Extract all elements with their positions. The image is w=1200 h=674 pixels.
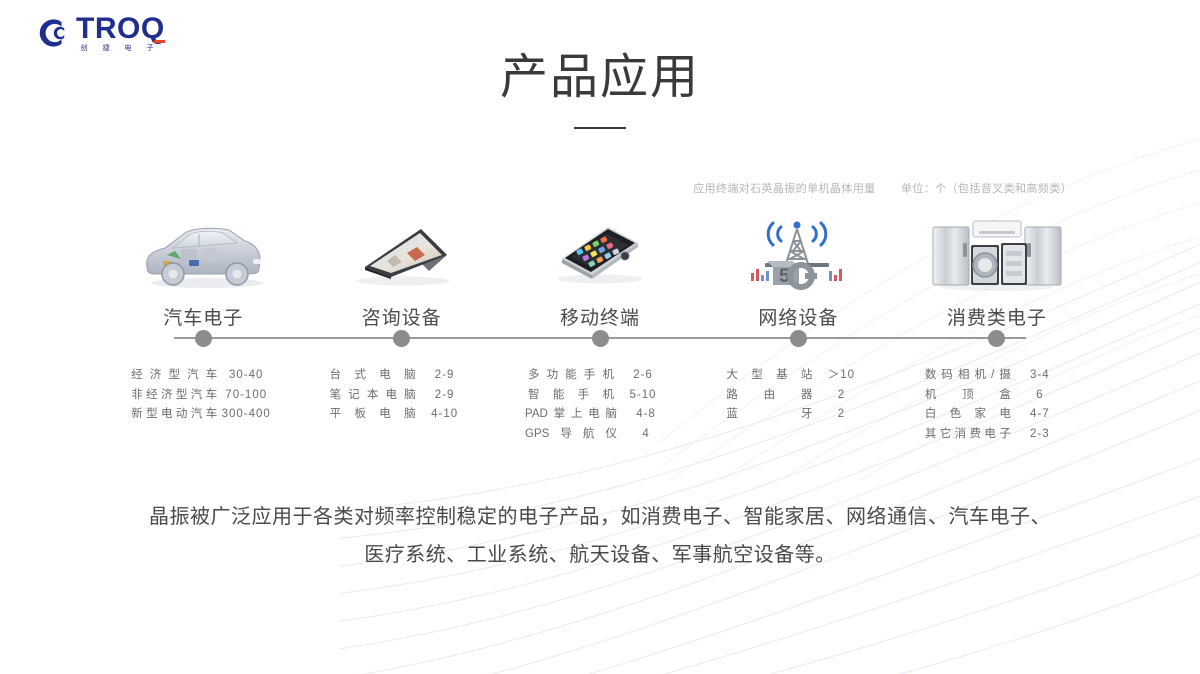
spec-value: 2	[812, 386, 870, 406]
spec-row: 非经济型汽车 70-100	[131, 386, 275, 406]
timeline-node-network[interactable]	[699, 329, 897, 347]
spec-row: 白色家电 4-7	[925, 405, 1069, 425]
spec-name: 路由器	[726, 386, 812, 406]
spec-value: ＞10	[812, 366, 870, 386]
spec-row: 多功能手机 2-6	[528, 366, 672, 386]
spec-name: 笔记本电脑	[330, 386, 416, 406]
spec-name: 其它消费电子	[925, 425, 1011, 445]
page-title: 产品应用	[0, 52, 1200, 105]
spec-value: 2-9	[416, 366, 474, 386]
spec-row: 数码相机/摄 3-4	[925, 366, 1069, 386]
spec-name: 多功能手机	[528, 366, 614, 386]
spec-name: 非经济型汽车	[131, 386, 217, 406]
spec-name: 白色家电	[925, 405, 1011, 425]
spec-row: 平板电脑 4-10	[330, 405, 474, 425]
spec-value: 4	[617, 425, 675, 445]
category-label-network: 网络设备	[758, 303, 838, 330]
spec-name: GPS导航仪	[525, 425, 617, 445]
spec-row: 大型基站 ＞10	[726, 366, 870, 386]
spec-value: 5-10	[614, 386, 672, 406]
spec-row: 机顶盒 6	[925, 386, 1069, 406]
spec-row: 新型电动汽车 300-400	[131, 405, 275, 425]
double-c-logo-icon	[36, 16, 70, 50]
timeline-dot-icon	[988, 330, 1005, 347]
timeline-dot-icon	[393, 330, 410, 347]
footer-paragraph: 晶振被广泛应用于各类对频率控制稳定的电子产品，如消费电子、智能家居、网络通信、汽…	[100, 498, 1100, 574]
spec-column-mobile: 多功能手机 2-6 智能手机 5-10 PAD掌上电脑 4-8 GPS导航仪 4	[501, 366, 699, 444]
spec-row: 经济型汽车 30-40	[131, 366, 275, 386]
spec-name: 经济型汽车	[131, 366, 217, 386]
category-label-automotive: 汽车电子	[163, 303, 243, 330]
brand-accent-bar	[154, 40, 165, 43]
spec-value: 70-100	[217, 386, 275, 406]
spec-value: 2-9	[416, 386, 474, 406]
spec-name: 数码相机/摄	[925, 366, 1011, 386]
timeline-dot-icon	[592, 330, 609, 347]
spec-column-automotive: 经济型汽车 30-40 非经济型汽车 70-100 新型电动汽车 300-400	[104, 366, 302, 444]
brand-logo: TROQ 创 捷 电 子	[36, 14, 165, 52]
spec-column-computing: 台式电脑 2-9 笔记本电脑 2-9 平板电脑 4-10	[302, 366, 500, 444]
spec-value: 4-7	[1011, 405, 1069, 425]
spec-value: 2	[812, 405, 870, 425]
spec-name: 机顶盒	[925, 386, 1011, 406]
home-appliances-icon	[922, 205, 1072, 291]
5g-tower-icon: 5	[723, 205, 873, 291]
spec-name: 新型电动汽车	[131, 405, 217, 425]
timeline-dot-icon	[195, 330, 212, 347]
category-label-computing: 咨询设备	[362, 303, 442, 330]
spec-value: 6	[1011, 386, 1069, 406]
brand-sub-wordmark: 创 捷 电 子	[76, 45, 165, 52]
spec-name: 蓝牙	[726, 405, 812, 425]
footer-line-1: 晶振被广泛应用于各类对频率控制稳定的电子产品，如消费电子、智能家居、网络通信、汽…	[100, 498, 1100, 536]
caption-unit: 单位：个（包括音叉类和高频类）	[901, 183, 1072, 195]
spec-name: 平板电脑	[330, 405, 416, 425]
car-xray-icon	[128, 205, 278, 291]
spec-name: 台式电脑	[330, 366, 416, 386]
caption-text: 应用终端对石英晶振的单机晶体用量	[693, 183, 875, 195]
spec-row: PAD掌上电脑 4-8	[525, 405, 675, 425]
category-label-consumer: 消费类电子	[947, 303, 1047, 330]
spec-value: 4-10	[416, 405, 474, 425]
spec-value: 4-8	[617, 405, 675, 425]
spec-row: 台式电脑 2-9	[330, 366, 474, 386]
spec-lists: 经济型汽车 30-40 非经济型汽车 70-100 新型电动汽车 300-400…	[104, 366, 1096, 444]
slide-root: TROQ 创 捷 电 子 产品应用 应用终端对石英晶振的单机晶体用量 单位：个（…	[0, 0, 1200, 674]
timeline-node-computing[interactable]	[302, 329, 500, 347]
spec-row: 蓝牙 2	[726, 405, 870, 425]
spec-row: 其它消费电子 2-3	[925, 425, 1069, 445]
spec-row: 智能手机 5-10	[528, 386, 672, 406]
spec-column-consumer: 数码相机/摄 3-4 机顶盒 6 白色家电 4-7 其它消费电子 2-3	[898, 366, 1096, 444]
timeline	[104, 329, 1096, 347]
spec-row: 笔记本电脑 2-9	[330, 386, 474, 406]
spec-name: 大型基站	[726, 366, 812, 386]
spec-value: 3-4	[1011, 366, 1069, 386]
spec-row: GPS导航仪 4	[525, 425, 675, 445]
spec-value: 2-3	[1011, 425, 1069, 445]
spec-column-network: 大型基站 ＞10 路由器 2 蓝牙 2	[699, 366, 897, 444]
timeline-dot-icon	[790, 330, 807, 347]
spec-name: 智能手机	[528, 386, 614, 406]
timeline-node-consumer[interactable]	[898, 329, 1096, 347]
spec-row: 路由器 2	[726, 386, 870, 406]
title-divider	[574, 127, 626, 129]
category-label-mobile: 移动终端	[560, 303, 640, 330]
spec-value: 30-40	[217, 366, 275, 386]
brand-wordmark-block: TROQ 创 捷 电 子	[76, 14, 165, 52]
smartphone-icon	[525, 205, 675, 291]
timeline-dots	[104, 329, 1096, 347]
spec-value: 300-400	[217, 405, 275, 425]
spec-name: PAD掌上电脑	[525, 405, 617, 425]
caption-row: 应用终端对石英晶振的单机晶体用量 单位：个（包括音叉类和高频类）	[693, 180, 1072, 196]
spec-value: 2-6	[614, 366, 672, 386]
footer-line-2: 医疗系统、工业系统、航天设备、军事航空设备等。	[100, 536, 1100, 574]
timeline-node-automotive[interactable]	[104, 329, 302, 347]
title-block: 产品应用	[0, 52, 1200, 129]
timeline-node-mobile[interactable]	[501, 329, 699, 347]
tablet-laptop-icon	[327, 205, 477, 291]
brand-wordmark: TROQ	[76, 14, 165, 44]
